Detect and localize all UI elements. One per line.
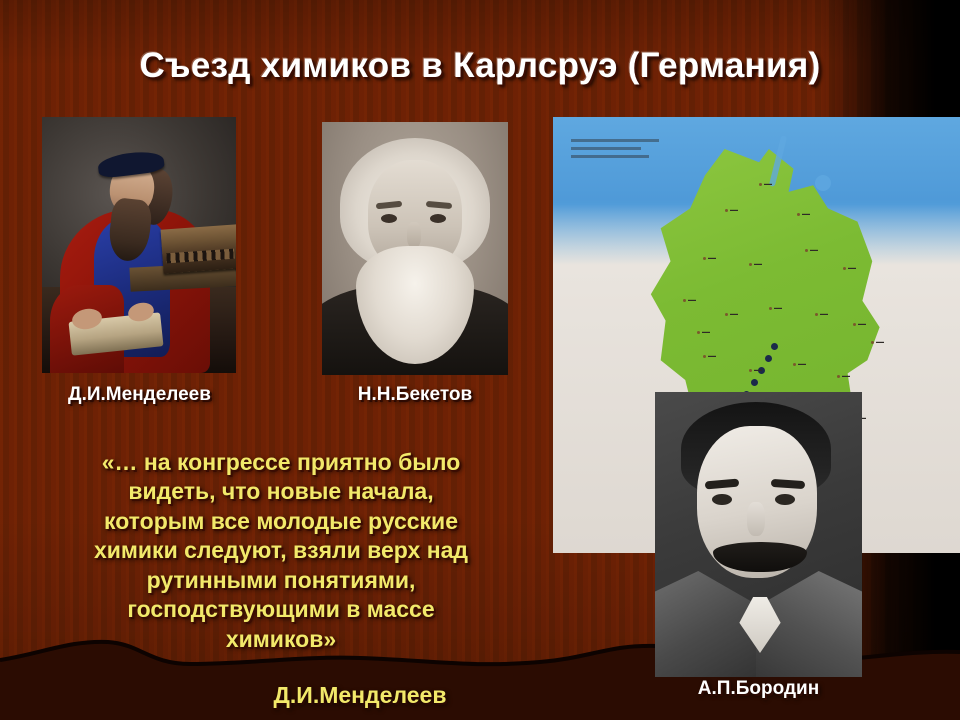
page-title: Съезд химиков в Карлсруэ (Германия) xyxy=(0,46,960,86)
map-city-label: ▬▬ xyxy=(702,329,710,334)
map-city-marker xyxy=(815,313,818,316)
photo-eye-left xyxy=(381,214,397,223)
caption-borodin: А.П.Бородин xyxy=(655,678,862,700)
map-city-label: ▬▬ xyxy=(688,297,696,302)
quote-line: химиков» xyxy=(16,625,546,654)
map-city-label: ▬▬ xyxy=(774,305,782,310)
map-city-marker xyxy=(797,213,800,216)
map-legend-line xyxy=(571,155,649,158)
quote-line: химики следуют, взяли верх над xyxy=(16,536,546,565)
map-city-label: ▬▬ xyxy=(754,261,762,266)
portrait-mendeleev xyxy=(42,117,236,373)
map-city-marker xyxy=(793,363,796,366)
map-city-marker xyxy=(853,323,856,326)
photo-eye-right xyxy=(775,494,795,505)
map-city-label: ▬▬ xyxy=(708,255,716,260)
photo-nose xyxy=(407,222,421,248)
map-city-label: ▬▬ xyxy=(730,311,738,316)
map-city-label: ▬▬ xyxy=(820,311,828,316)
map-city-label: ▬▬ xyxy=(810,247,818,252)
map-city-marker xyxy=(871,341,874,344)
map-city-marker xyxy=(703,355,706,358)
slide-root: Съезд химиков в Карлсруэ (Германия) Д.И.… xyxy=(0,0,960,720)
quote-block: «… на конгрессе приятно было видеть, что… xyxy=(16,448,546,654)
map-city-label: ▬▬ xyxy=(842,373,850,378)
map-route-dot xyxy=(765,355,772,362)
map-city-marker xyxy=(725,313,728,316)
quote-attribution: Д.И.Менделеев xyxy=(150,682,570,709)
map-city-marker xyxy=(843,267,846,270)
quote-line: которым все молодые русские xyxy=(16,507,546,536)
map-city-label: ▬▬ xyxy=(764,181,772,186)
map-city-marker xyxy=(703,257,706,260)
map-city-marker xyxy=(759,183,762,186)
caption-mendeleev: Д.И.Менделеев xyxy=(22,384,257,406)
map-city-label: ▬▬ xyxy=(754,367,762,372)
map-legend xyxy=(571,139,681,173)
map-route-dot xyxy=(751,379,758,386)
quote-line: господствующими в массе xyxy=(16,595,546,624)
map-city-label: ▬▬ xyxy=(858,321,866,326)
map-city-marker xyxy=(805,249,808,252)
quote-line: рутинными понятиями, xyxy=(16,566,546,595)
photo-eye-left xyxy=(712,494,732,505)
map-city-marker xyxy=(837,375,840,378)
map-city-label: ▬▬ xyxy=(798,361,806,366)
map-city-label: ▬▬ xyxy=(730,207,738,212)
portrait-beketov xyxy=(322,122,508,375)
photo-eye-right xyxy=(430,214,446,223)
map-legend-line xyxy=(571,139,659,142)
portrait-borodin xyxy=(655,392,862,677)
map-city-label: ▬▬ xyxy=(848,265,856,270)
map-legend-line xyxy=(571,147,641,150)
map-city-marker xyxy=(683,299,686,302)
map-city-marker xyxy=(749,369,752,372)
map-city-marker xyxy=(769,307,772,310)
map-lake xyxy=(815,175,831,191)
map-city-label: ▬▬ xyxy=(708,353,716,358)
quote-line: «… на конгрессе приятно было xyxy=(16,448,546,477)
caption-beketov: Н.Н.Бекетов xyxy=(300,384,530,406)
map-city-marker xyxy=(749,263,752,266)
photo-nose xyxy=(747,502,765,536)
map-city-marker xyxy=(697,331,700,334)
map-city-marker xyxy=(725,209,728,212)
map-city-label: ▬▬ xyxy=(802,211,810,216)
map-city-label: ▬▬ xyxy=(876,339,884,344)
map-route-dot xyxy=(771,343,778,350)
painting-books xyxy=(161,224,236,273)
quote-line: видеть, что новые начала, xyxy=(16,477,546,506)
